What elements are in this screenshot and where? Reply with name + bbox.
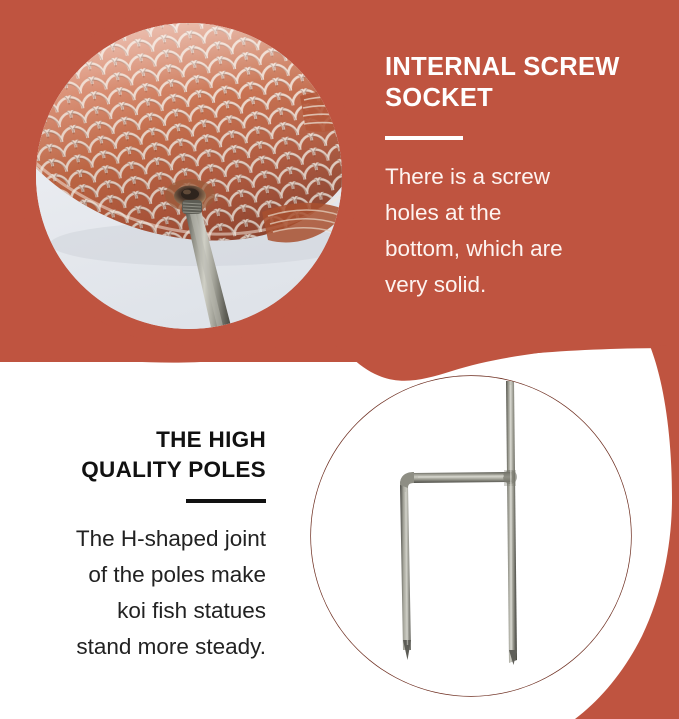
bottom-body-line-3: koi fish statues — [18, 593, 266, 629]
top-body-line-3: bottom, which are — [385, 231, 653, 267]
top-divider — [385, 136, 463, 140]
bottom-body-text: The H-shaped joint of the poles make koi… — [18, 521, 266, 665]
bottom-divider — [186, 499, 266, 503]
top-heading-line-1: INTERNAL SCREW — [385, 52, 653, 83]
top-body-line-4: very solid. — [385, 267, 653, 303]
bottom-heading: THE HIGH QUALITY POLES — [18, 425, 266, 485]
bottom-body-line-2: of the poles make — [18, 557, 266, 593]
bottom-body-line-1: The H-shaped joint — [18, 521, 266, 557]
bottom-heading-line-1: THE HIGH — [18, 425, 266, 455]
bottom-body-line-4: stand more steady. — [18, 629, 266, 665]
bottom-text-block: THE HIGH QUALITY POLES The H-shaped join… — [18, 425, 266, 665]
top-body-text: There is a screw holes at the bottom, wh… — [385, 159, 653, 303]
top-body-line-2: holes at the — [385, 195, 653, 231]
bottom-heading-line-2: QUALITY POLES — [18, 455, 266, 485]
top-text-block: INTERNAL SCREW SOCKET There is a screw h… — [385, 52, 653, 303]
top-body-line-1: There is a screw — [385, 159, 653, 195]
top-heading-line-2: SOCKET — [385, 83, 653, 114]
top-heading: INTERNAL SCREW SOCKET — [385, 52, 653, 114]
infographic-canvas: INTERNAL SCREW SOCKET There is a screw h… — [0, 0, 679, 719]
